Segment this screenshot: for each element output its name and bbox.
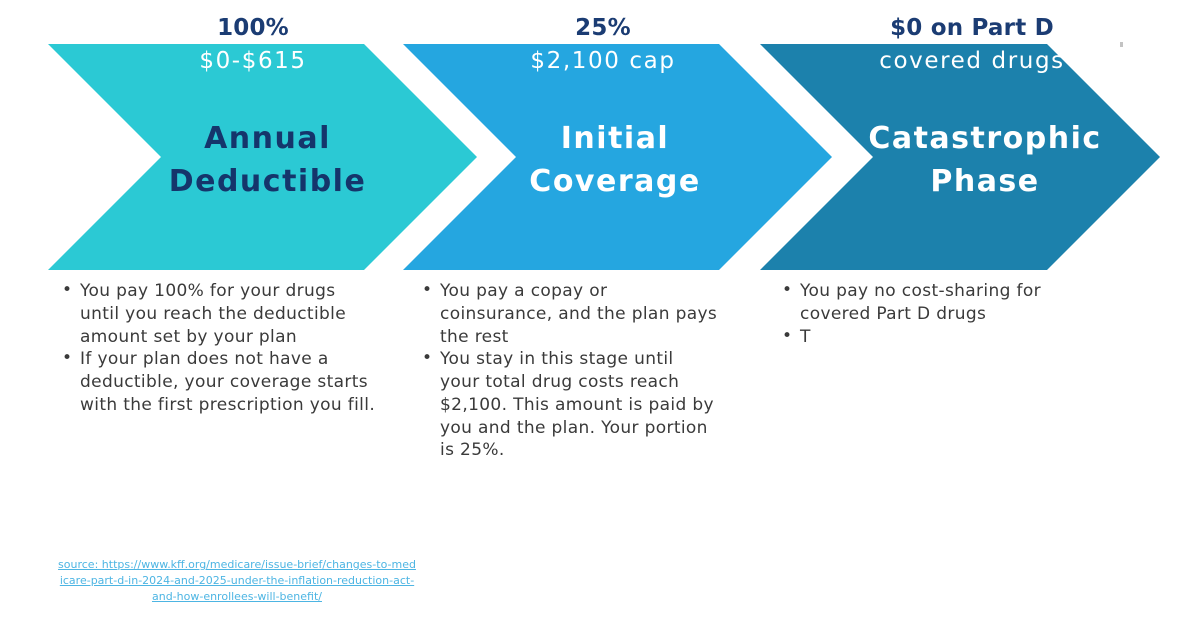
infographic-canvas: 100% 25% $0 on Part D $0-$615 $2,100 cap… [0, 0, 1204, 620]
list-item: You pay 100% for your drugs until you re… [58, 280, 378, 348]
stage-2-top-caption: 25% [403, 16, 803, 41]
list-item: You stay in this stage until your total … [418, 348, 718, 462]
stage-3-title: Catastrophic Phase [790, 118, 1180, 203]
source-link[interactable]: source: https://www.kff.org/medicare/iss… [58, 557, 416, 605]
stage-1-sub-caption: $0-$615 [48, 48, 458, 74]
list-item: You pay no cost-sharing for covered Part… [778, 280, 1088, 326]
stage-3-sub-caption: covered drugs [760, 48, 1184, 74]
stage-1-title: Annual Deductible [90, 118, 445, 203]
stage-1-top-caption: 100% [48, 16, 458, 41]
stage-3-top-caption: $0 on Part D [760, 16, 1184, 41]
list-item: If your plan does not have a deductible,… [58, 348, 378, 416]
stage-2-sub-caption: $2,100 cap [403, 48, 803, 74]
stage-1-bullet-list: You pay 100% for your drugs until you re… [58, 280, 378, 417]
stage-3-bullet-list: You pay no cost-sharing for covered Part… [778, 280, 1088, 348]
list-item: T [778, 326, 1088, 349]
stage-2-title: Initial Coverage [430, 118, 800, 203]
stage-2-bullet-list: You pay a copay or coinsurance, and the … [418, 280, 718, 462]
render-artifact-dot [1120, 42, 1123, 47]
list-item: You pay a copay or coinsurance, and the … [418, 280, 718, 348]
